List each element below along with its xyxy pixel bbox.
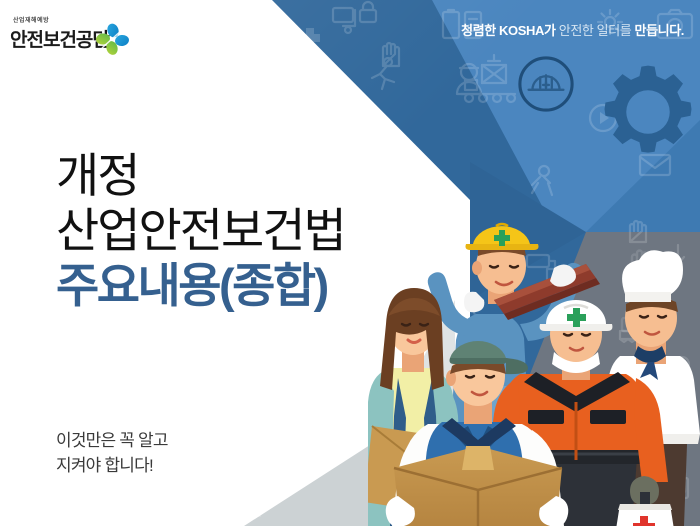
falling-person-icon: [532, 166, 552, 195]
title-line-2: 산업안전보건법: [56, 207, 345, 254]
first-aid-icon: [300, 28, 320, 48]
kosha-logo[interactable]: 산업재해예방 안전보건공단: [10, 12, 130, 54]
title-line-1: 개정: [56, 152, 345, 199]
page-title: 개정 산업안전보건법 주요내용(종합): [56, 152, 345, 309]
crane-icon: [482, 55, 506, 83]
mouse-icon: [320, 120, 336, 144]
envelope-icon: [355, 125, 389, 149]
battery-icon: [443, 10, 459, 38]
subnote: 이것만은 꼭 알고 지켜야 합니다!: [56, 429, 168, 478]
tagline-bold-tail: 만듭니다.: [635, 23, 684, 38]
gear-icon: [596, 60, 700, 164]
hand-truck-icon: [240, 500, 260, 516]
poster-canvas: 산업재해예방 안전보건공단 청렴한 KOSHA가 안전한 일: [0, 0, 700, 526]
subnote-line-1: 이것만은 꼭 알고: [56, 429, 168, 454]
padlock-icon: [360, 2, 376, 22]
hand-truck-icon: [333, 8, 355, 33]
tagline-bold-lead: 청렴한 KOSHA가: [461, 23, 555, 38]
title-line-3: 주요내용(종합): [56, 262, 345, 309]
subnote-line-2: 지켜야 합니다!: [56, 454, 168, 479]
logo-subtitle: 산업재해예방: [13, 15, 49, 24]
tagline-light-mid: 안전한 일터를: [556, 23, 635, 38]
tagline: 청렴한 KOSHA가 안전한 일터를 만듭니다.: [461, 20, 684, 39]
heart-pulse-icon: [295, 96, 321, 119]
pedestrian-icon: [296, 58, 316, 70]
kosha-clover-icon: [95, 23, 130, 56]
safety-helmet-badge-icon: [517, 55, 575, 113]
running-person-icon: [372, 58, 394, 89]
five-workers-illustration: [368, 196, 700, 526]
